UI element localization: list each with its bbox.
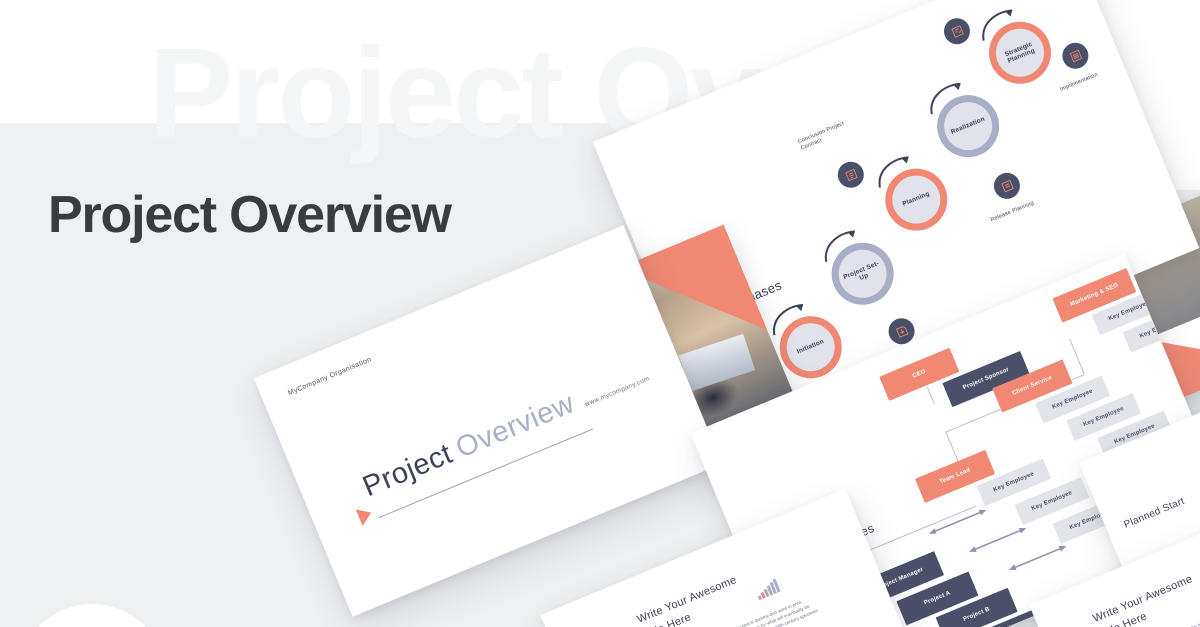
cover-url: www.mycompany.com: [584, 375, 651, 408]
phase-label: Planning: [902, 191, 931, 209]
phase-label: Initiation: [796, 338, 825, 356]
page-title: Project Overview: [48, 185, 451, 245]
phase-label: Strategic Planning: [998, 38, 1043, 68]
planned-title: Planned Start: [1122, 496, 1186, 531]
cover-organisation: MyCompany Organisation: [287, 356, 373, 397]
bidirectional-arrow: [1006, 539, 1067, 572]
release-icon: [990, 169, 1024, 203]
poster-canvas: Project Overv Project Overview Project P…: [0, 0, 1200, 627]
contract-icon: [834, 158, 868, 192]
phase-label: Realization: [950, 116, 986, 137]
node-label: Key Employee: [993, 471, 1035, 493]
results-icon: [940, 14, 974, 48]
cover-triangle-icon: [356, 504, 375, 526]
node-label: Key Employee: [1051, 388, 1093, 410]
node-label: Client Service: [1012, 375, 1054, 397]
milestone-label: Conclusion Project Contract: [797, 115, 861, 152]
node-label: CEO: [912, 369, 927, 380]
cover-title: Project Overview: [358, 387, 579, 504]
bidirectional-arrow: [926, 503, 987, 536]
text-slide-title: Write Your Awesome Title Here: [1091, 562, 1200, 627]
node-label: Project A: [923, 590, 951, 606]
node-label: Key Employee: [1082, 406, 1124, 428]
node-label: Team Lead: [939, 467, 972, 485]
node-label: Marketing & SEO: [1069, 283, 1119, 308]
node-label: Key Employee: [1031, 490, 1073, 512]
bidirectional-arrow: [966, 521, 1027, 554]
cover-title-primary: Project: [358, 438, 457, 504]
node-label: Project B: [962, 606, 990, 622]
connector: [927, 387, 935, 404]
node-label: Key Employee: [1108, 300, 1150, 322]
implementation-icon: [1058, 39, 1092, 73]
text-slide-title: Write Your Awesome Title Here: [635, 563, 768, 627]
connector: [1069, 339, 1084, 374]
phase-label: Project Set-Up: [840, 259, 885, 289]
milestone-label: Release Planning: [990, 193, 1052, 224]
cover-title-secondary: Overview: [451, 387, 579, 465]
